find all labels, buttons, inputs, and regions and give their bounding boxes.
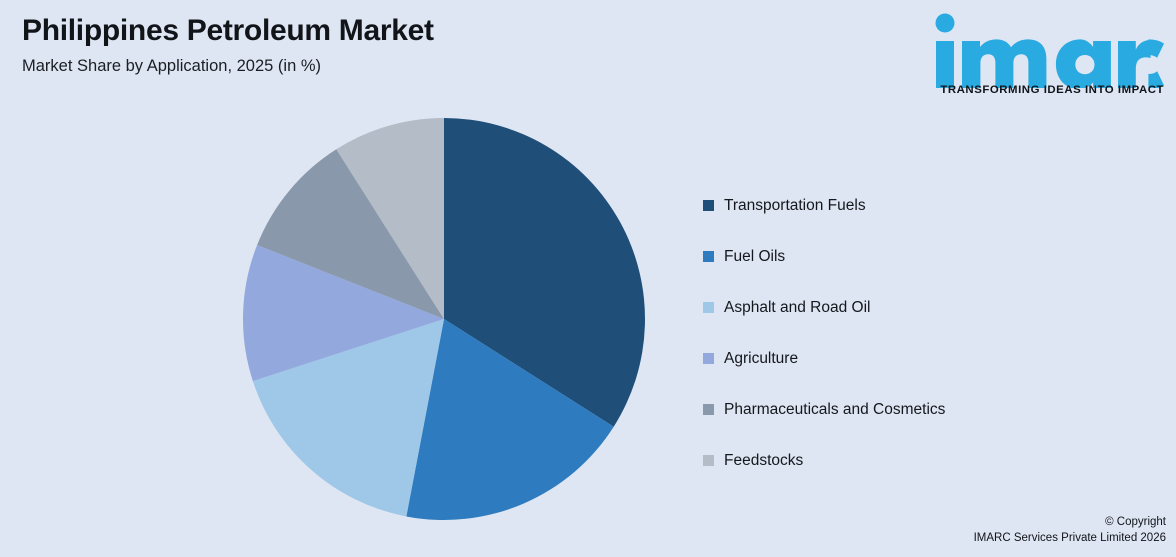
legend-item-label: Pharmaceuticals and Cosmetics <box>724 402 945 418</box>
legend-item-label: Asphalt and Road Oil <box>724 300 870 316</box>
legend-swatch-icon <box>703 455 714 466</box>
legend-item-label: Feedstocks <box>724 453 803 469</box>
copyright-notice: © Copyright IMARC Services Private Limit… <box>974 514 1166 547</box>
chart-header: Philippines Petroleum Market Market Shar… <box>22 14 722 76</box>
imarc-wordmark-icon <box>928 10 1166 88</box>
chart-canvas: Philippines Petroleum Market Market Shar… <box>0 0 1176 557</box>
legend-item-pharmaceuticals-and-cosmetics[interactable]: Pharmaceuticals and Cosmetics <box>703 384 1133 435</box>
legend-swatch-icon <box>703 200 714 211</box>
legend-item-fuel-oils[interactable]: Fuel Oils <box>703 231 1133 282</box>
pie-chart-svg <box>243 118 645 520</box>
chart-legend: Transportation Fuels Fuel Oils Asphalt a… <box>703 180 1133 486</box>
legend-item-label: Agriculture <box>724 351 798 367</box>
legend-swatch-icon <box>703 302 714 313</box>
legend-item-transportation-fuels[interactable]: Transportation Fuels <box>703 180 1133 231</box>
pie-chart <box>243 118 645 520</box>
legend-item-asphalt-and-road-oil[interactable]: Asphalt and Road Oil <box>703 282 1133 333</box>
pie-slice-group <box>243 118 645 520</box>
chart-subtitle: Market Share by Application, 2025 (in %) <box>22 57 722 77</box>
imarc-logo: TRANSFORMING IDEAS INTO IMPACT <box>928 10 1168 96</box>
legend-item-agriculture[interactable]: Agriculture <box>703 333 1133 384</box>
legend-swatch-icon <box>703 404 714 415</box>
copyright-line-1: © Copyright <box>974 514 1166 531</box>
logo-tagline: TRANSFORMING IDEAS INTO IMPACT <box>928 84 1168 96</box>
legend-swatch-icon <box>703 353 714 364</box>
page-title: Philippines Petroleum Market <box>22 14 722 49</box>
legend-swatch-icon <box>703 251 714 262</box>
legend-item-label: Transportation Fuels <box>724 198 866 214</box>
legend-item-feedstocks[interactable]: Feedstocks <box>703 435 1133 486</box>
legend-item-label: Fuel Oils <box>724 249 785 265</box>
copyright-line-2: IMARC Services Private Limited 2026 <box>974 530 1166 547</box>
